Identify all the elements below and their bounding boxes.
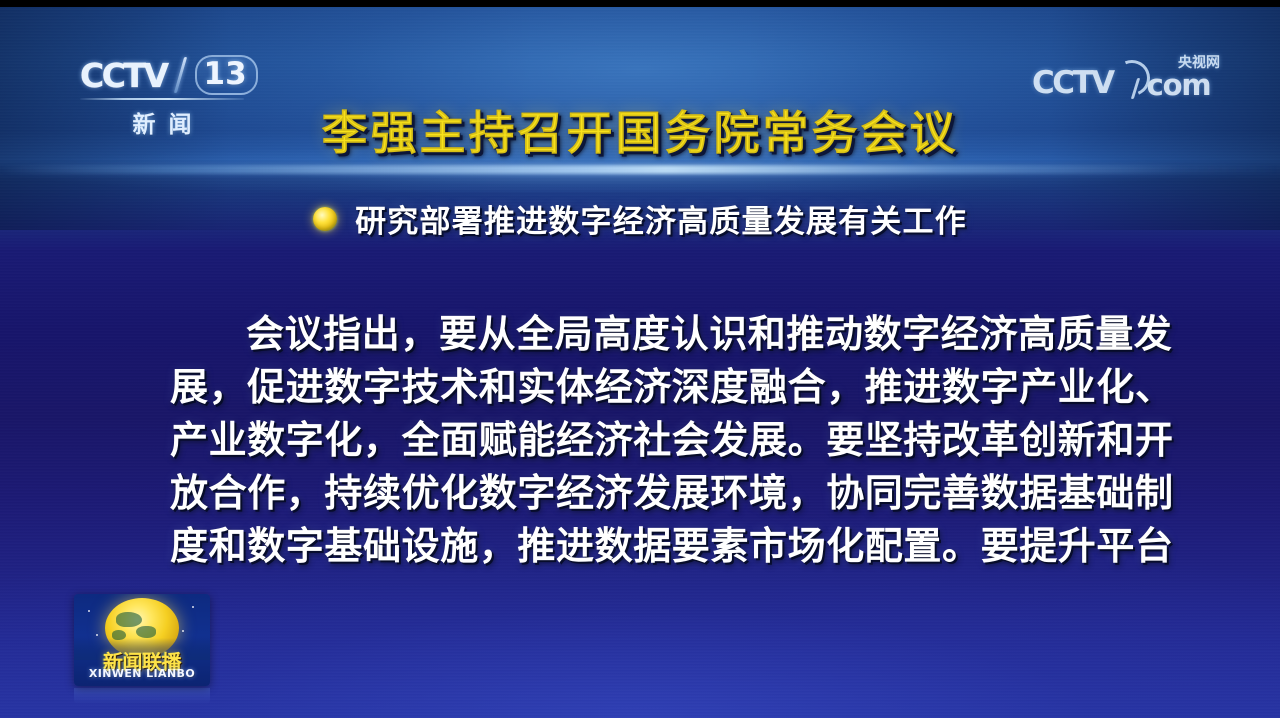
body-line: 度和数字基础设施，推进数据要素市场化配置。要提升平台 <box>170 520 1120 573</box>
body-line: 会议指出，要从全局高度认识和推动数字经济高质量发 <box>170 308 1120 361</box>
globe-landmass <box>116 612 142 627</box>
star-speck <box>182 630 184 632</box>
watermark-com-text: com <box>1147 70 1211 100</box>
program-name-pinyin: XINWEN LIANBO <box>74 667 210 680</box>
cctv-wordmark: CCTV <box>80 56 167 95</box>
watermark-cctv-text: CCTV <box>1032 66 1113 100</box>
body-line: 放合作，持续优化数字经济发展环境，协同完善数据基础制 <box>170 467 1120 520</box>
site-watermark: CCTV com 央视网 <box>1032 54 1222 106</box>
watermark-chinese-text: 央视网 <box>1178 52 1220 72</box>
yellow-sphere-bullet-icon <box>313 207 337 231</box>
channel-logo-row: CCTV 13 <box>80 55 260 95</box>
watermark-row: CCTV com 央视网 <box>1032 54 1222 100</box>
letterbox-bar-top <box>0 0 1280 7</box>
cctv-slash-icon <box>174 57 188 93</box>
channel-logo-underline <box>80 98 244 100</box>
subtitle-text: 研究部署推进数字经济高质量发展有关工作 <box>355 196 967 241</box>
subtitle-row: 研究部署推进数字经济高质量发展有关工作 <box>0 196 1280 241</box>
watermark-arc-icon <box>1113 58 1147 100</box>
globe-landmass <box>136 626 156 638</box>
star-speck <box>88 610 90 612</box>
channel-number-badge: 13 <box>195 55 258 95</box>
body-line: 产业数字化，全面赋能经济社会发展。要坚持改革创新和开 <box>170 414 1120 467</box>
channel-logo-bug: CCTV 13 新闻 <box>80 55 260 141</box>
body-line: 展，促进数字技术和实体经济深度融合，推进数字产业化、 <box>170 361 1120 414</box>
program-badge-reflection <box>74 688 210 704</box>
program-logo-badge: 新闻联播 XINWEN LIANBO <box>74 594 210 686</box>
star-speck <box>96 634 98 636</box>
star-speck <box>192 606 194 608</box>
channel-name-label: 新闻 <box>80 105 244 139</box>
broadcast-frame: CCTV 13 新闻 CCTV com 央视网 李强主持召开国务院常务会议 研究… <box>0 0 1280 718</box>
body-paragraph: 会议指出，要从全局高度认识和推动数字经济高质量发 展，促进数字技术和实体经济深度… <box>170 308 1120 573</box>
headline-text: 李强主持召开国务院常务会议 <box>322 97 959 163</box>
